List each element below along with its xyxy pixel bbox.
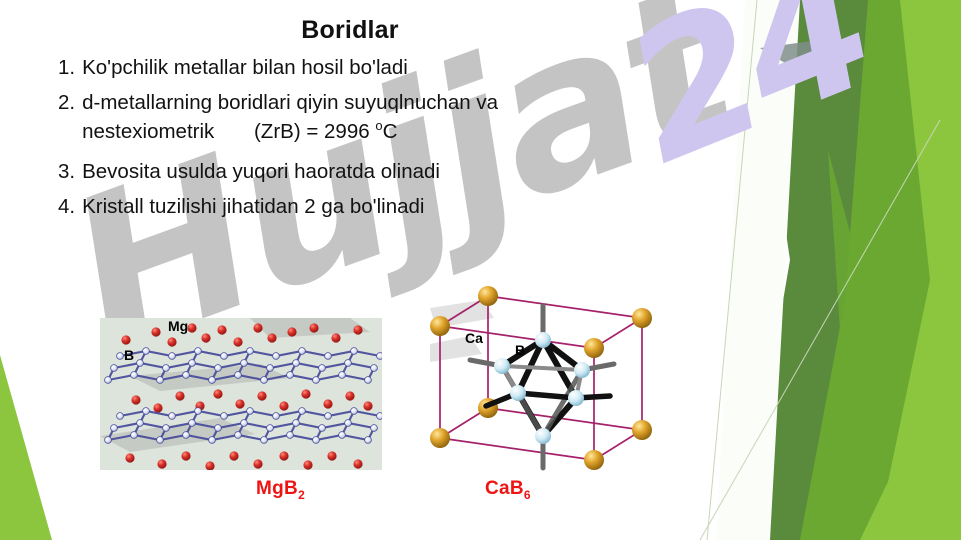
- bullet-text-2-line1: d-metallarning boridlari qiyin suyuqlnuc…: [82, 91, 498, 114]
- cab6-crystal-diagram: [430, 278, 692, 478]
- mgb2-mg-atoms-lower: [125, 451, 362, 470]
- bullet-text-1: Ko'pchilik metallar bilan hosil bo'ladi: [82, 55, 678, 81]
- bullet-item-4: 4. Kristall tuzilishi jihatidan 2 ga bo'…: [58, 194, 678, 220]
- cab6-caption: CaB6: [485, 478, 531, 502]
- bullet-list: 1. Ko'pchilik metallar bilan hosil bo'la…: [58, 55, 678, 228]
- bullet-text-2-keyword: nestexiometrik: [82, 120, 214, 143]
- cab6-caption-main: CaB: [485, 478, 524, 499]
- bullet-text-2-line2: nestexiometrik (ZrB) = 2996 oC: [82, 119, 678, 145]
- bullet-item-3: 3. Bevosita usulda yuqori haoratda olina…: [58, 159, 678, 185]
- mgb2-caption-sub: 2: [298, 488, 305, 502]
- bullet-item-1: 1. Ko'pchilik metallar bilan hosil bo'la…: [58, 55, 678, 81]
- zrb-formula: (ZrB) = 2996 oC: [254, 120, 397, 143]
- bullet-number-1: 1.: [58, 55, 75, 81]
- mgb2-caption-main: MgB: [256, 478, 298, 499]
- mgb2-shadow-bands: [100, 318, 370, 452]
- cab6-caption-sub: 6: [524, 488, 531, 502]
- slide-title: Boridlar: [0, 16, 700, 45]
- bullet-text-3: Bevosita usulda yuqori haoratda olinadi: [82, 159, 678, 185]
- cab6-label-ca: Ca: [465, 330, 483, 346]
- bullet-text-4: Kristall tuzilishi jihatidan 2 ga bo'lin…: [82, 194, 678, 220]
- bullet-number-3: 3.: [58, 159, 75, 185]
- bullet-number-4: 4.: [58, 194, 75, 220]
- mgb2-caption: MgB2: [256, 478, 305, 502]
- bullet-number-2: 2.: [58, 90, 75, 145]
- mgb2-boron-layer-lower: [105, 408, 382, 444]
- degree-symbol: o: [375, 118, 382, 133]
- temperature-unit: C: [383, 120, 398, 143]
- bullet-item-2: 2. d-metallarning boridlari qiyin suyuql…: [58, 90, 678, 145]
- bullet-text-2: d-metallarning boridlari qiyin suyuqlnuc…: [82, 90, 678, 145]
- slide-canvas: Hujjat 24 B: [0, 0, 961, 540]
- mgb2-label-mg: Mg: [168, 318, 188, 334]
- cab6-structure-figure: [430, 278, 692, 478]
- mgb2-crystal-diagram: [100, 318, 382, 470]
- mgb2-structure-figure: [100, 318, 382, 470]
- mgb2-label-b: B: [124, 347, 134, 363]
- zrb-formula-value: (ZrB) = 2996: [254, 120, 375, 143]
- cab6-label-b: B: [515, 342, 525, 358]
